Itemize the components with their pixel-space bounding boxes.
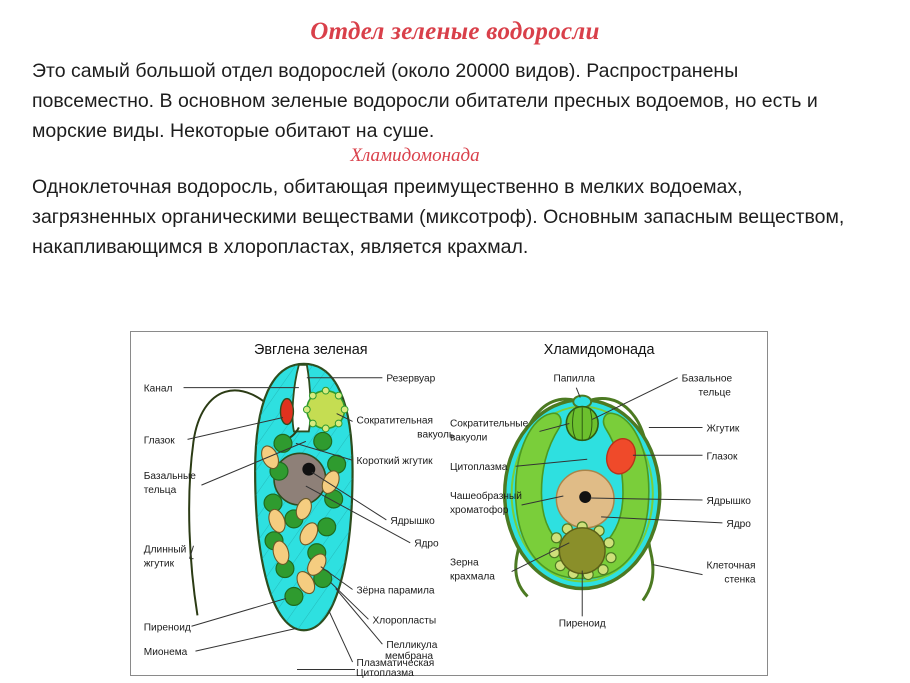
chlamydomonas-label-papilla: Папилла	[554, 374, 596, 385]
chlamydomonas-label-hromatofor: хроматофор	[450, 504, 509, 516]
chlamydomonas-label-bazalnoe: Базальное	[682, 374, 733, 385]
chlamydomonas-label-pirenoid: Пиреноид	[559, 618, 606, 629]
chlamydomonas-label-vakuoli: вакуоли	[450, 432, 487, 443]
euglena-label-zerna-paramila: Зёрна парамила	[357, 585, 435, 596]
euglena-label-sokratitelnaya: Сократительная	[357, 415, 433, 426]
euglena-label-vakuol: вакуоль	[417, 429, 454, 440]
chlamydomonas-title: Хламидомонада	[544, 342, 656, 358]
euglena-label-pirenoid: Пиреноид	[144, 622, 191, 633]
chlamydomonas-label-citoplazma: Цитоплазма	[450, 462, 508, 473]
paragraph-intro: Это самый большой отдел водорослей (окол…	[32, 56, 822, 146]
chlamydomonas-label-glazok: Глазок	[706, 451, 737, 462]
euglena-eyespot	[280, 399, 293, 425]
chlamydomonas-label-stenka: стенка	[724, 575, 755, 586]
chlamydomonas-label-kletochnaya: Клеточная	[706, 561, 755, 572]
euglena-label-rezervuar: Резервуар	[386, 374, 435, 385]
chlamydomonas-label-zhgutik: Жгутик	[706, 423, 739, 434]
chlamydomonas-pyrenoid	[559, 528, 605, 574]
cell-diagram-panel: Эвглена зеленая	[130, 331, 768, 676]
chlamydomonas-label-krahmala: крахмала	[450, 572, 495, 583]
chlamydomonas-label-yadryshko: Ядрышко	[706, 496, 751, 507]
section-subtitle: Хламидомонада	[0, 145, 830, 167]
euglena-label-hloroplasty: Хлоропласты	[372, 615, 436, 626]
chlamydomonas-label-yadro: Ядро	[726, 519, 751, 530]
euglena-label-korotkiy-zhgutik: Короткий жгутик	[357, 456, 434, 467]
euglena-label-bazalnye: Базальные	[144, 471, 196, 482]
euglena-label-telca: тельца	[144, 485, 177, 496]
euglena-title: Эвглена зеленая	[254, 342, 368, 358]
chlamydomonas-label-sokratitelnye: Сократительные	[450, 418, 529, 429]
chlamydomonas-nucleolus	[579, 491, 591, 503]
chlamydomonas-label-zerna: Зерна	[450, 558, 479, 569]
euglena-label-mionema: Мионема	[144, 647, 188, 658]
euglena-label-glazok: Глазок	[144, 435, 175, 446]
euglena-label-zhgutik: жгутик	[144, 559, 175, 570]
chlamydomonas-label-chasheobraznyi: Чашеобразный	[450, 490, 522, 502]
euglena-label-plazmaticheskaya: Плазматическая	[357, 658, 435, 669]
euglena-label-yadryshko: Ядрышко	[390, 516, 435, 527]
paragraph-chlamydomonas: Одноклеточная водоросль, обитающая преим…	[32, 172, 852, 262]
euglena-label-dlinnyi: Длинный	[144, 545, 187, 556]
chlamydomonas-label-telce: тельце	[699, 388, 732, 399]
euglena-label-yadro: Ядро	[414, 539, 439, 550]
page-title: Отдел зеленые водоросли	[0, 18, 910, 46]
euglena-label-pellikula: Пелликула	[386, 640, 437, 651]
euglena-label-kanal: Канал	[144, 384, 173, 395]
